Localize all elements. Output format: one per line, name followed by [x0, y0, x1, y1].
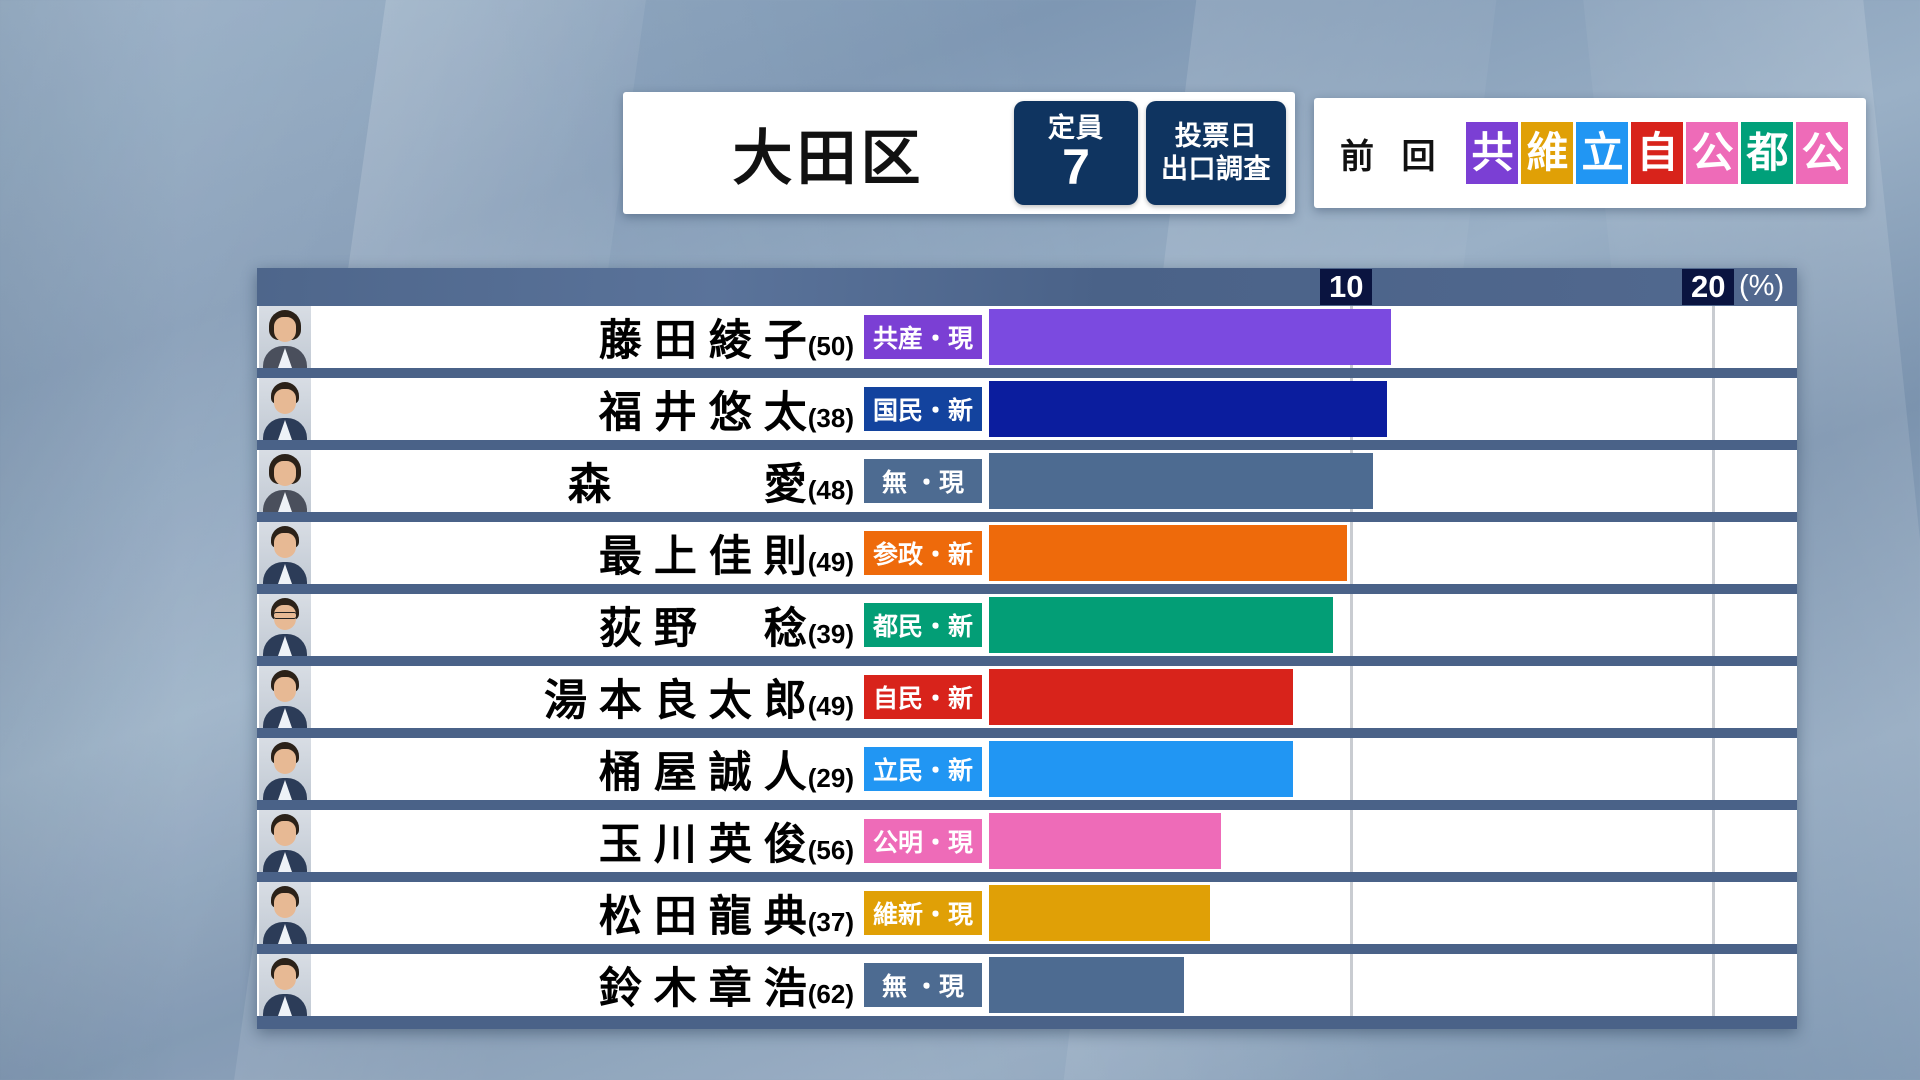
previous-party-badge: 都: [1741, 122, 1793, 184]
candidate-photo: [259, 594, 311, 656]
candidate-row[interactable]: 藤 田 綾 子(50)共産・現: [257, 306, 1797, 368]
axis-tick-label: 10: [1320, 269, 1372, 305]
candidate-photo: [259, 882, 311, 944]
previous-party-badge: 公: [1686, 122, 1738, 184]
vote-share-bar: [989, 957, 1184, 1013]
candidate-name-block: 玉 川 英 俊(56): [311, 810, 858, 872]
candidate-rows: 藤 田 綾 子(50)共産・現福 井 悠 太(38)国民・新森 愛(48)無 ・…: [257, 306, 1797, 1029]
candidate-photo: [259, 738, 311, 800]
candidate-info: 玉 川 英 俊(56)公明・現: [257, 810, 987, 872]
candidate-row[interactable]: 湯 本 良 太 郎(49)自民・新: [257, 666, 1797, 728]
candidate-name-block: 福 井 悠 太(38): [311, 378, 858, 440]
party-status-badge: 国民・新: [864, 387, 982, 431]
header: 大田区 定員 7 投票日 出口調査 前 回 共維立自公都公: [0, 92, 1920, 214]
previous-label: 前 回: [1340, 129, 1444, 178]
title-plate: 大田区 定員 7 投票日 出口調査: [623, 92, 1295, 214]
quota-badge: 定員 7: [1014, 101, 1138, 205]
grid-line: [1350, 666, 1353, 728]
grid-line: [1712, 666, 1715, 728]
candidate-row[interactable]: 玉 川 英 俊(56)公明・現: [257, 810, 1797, 872]
candidate-photo: [259, 810, 311, 872]
exit-poll-chart: 1020(%) 藤 田 綾 子(50)共産・現福 井 悠 太(38)国民・新森 …: [257, 268, 1797, 1029]
quota-value: 7: [1062, 142, 1090, 192]
candidate-info: 松 田 龍 典(37)維新・現: [257, 882, 987, 944]
axis-tick-label: 20: [1682, 269, 1734, 305]
candidate-name: 玉 川 英 俊: [599, 810, 807, 872]
candidate-name-block: 湯 本 良 太 郎(49): [311, 666, 858, 728]
bar-plot-area: [987, 522, 1797, 584]
exit-poll-line1: 投票日: [1175, 120, 1258, 153]
party-status-badge: 無 ・現: [864, 459, 982, 503]
candidate-row[interactable]: 松 田 龍 典(37)維新・現: [257, 882, 1797, 944]
quota-label: 定員: [1048, 114, 1104, 142]
candidate-name: 松 田 龍 典: [599, 882, 807, 944]
vote-share-bar: [989, 381, 1387, 437]
candidate-name-block: 森 愛(48): [311, 450, 858, 512]
bar-plot-area: [987, 810, 1797, 872]
candidate-row[interactable]: 鈴 木 章 浩(62)無 ・現: [257, 954, 1797, 1016]
party-status-badge: 立民・新: [864, 747, 982, 791]
candidate-name-block: 最 上 佳 則(49): [311, 522, 858, 584]
bar-plot-area: [987, 594, 1797, 656]
grid-line: [1712, 450, 1715, 512]
bar-plot-area: [987, 666, 1797, 728]
grid-line: [1712, 882, 1715, 944]
grid-line: [1350, 882, 1353, 944]
grid-line: [1350, 954, 1353, 1016]
candidate-age: (49): [808, 691, 854, 722]
candidate-row[interactable]: 荻 野 稔(39)都民・新: [257, 594, 1797, 656]
candidate-name: 湯 本 良 太 郎: [544, 666, 807, 728]
grid-line: [1712, 306, 1715, 368]
candidate-name: 桶 屋 誠 人: [599, 738, 807, 800]
previous-party-badge: 立: [1576, 122, 1628, 184]
candidate-row[interactable]: 最 上 佳 則(49)参政・新: [257, 522, 1797, 584]
candidate-age: (37): [808, 907, 854, 938]
candidate-name: 最 上 佳 則: [599, 522, 807, 584]
candidate-name: 鈴 木 章 浩: [599, 954, 807, 1016]
party-status-badge: 無 ・現: [864, 963, 982, 1007]
grid-line: [1712, 954, 1715, 1016]
candidate-age: (49): [808, 547, 854, 578]
previous-party-badge: 自: [1631, 122, 1683, 184]
vote-share-bar: [989, 453, 1373, 509]
chart-axis: 1020(%): [257, 268, 1797, 306]
district-name: 大田区: [623, 110, 1014, 197]
exit-poll-line2: 出口調査: [1161, 153, 1271, 186]
vote-share-bar: [989, 525, 1347, 581]
candidate-name-block: 松 田 龍 典(37): [311, 882, 858, 944]
bar-plot-area: [987, 882, 1797, 944]
candidate-name-block: 桶 屋 誠 人(29): [311, 738, 858, 800]
candidate-info: 桶 屋 誠 人(29)立民・新: [257, 738, 987, 800]
previous-party-badge: 維: [1521, 122, 1573, 184]
vote-share-bar: [989, 741, 1293, 797]
candidate-row[interactable]: 桶 屋 誠 人(29)立民・新: [257, 738, 1797, 800]
grid-line: [1712, 810, 1715, 872]
candidate-age: (39): [808, 619, 854, 650]
candidate-age: (62): [808, 979, 854, 1010]
vote-share-bar: [989, 309, 1391, 365]
candidate-age: (56): [808, 835, 854, 866]
candidate-age: (38): [808, 403, 854, 434]
candidate-info: 藤 田 綾 子(50)共産・現: [257, 306, 987, 368]
grid-line: [1350, 522, 1353, 584]
previous-party-badge: 公: [1796, 122, 1848, 184]
candidate-name-block: 鈴 木 章 浩(62): [311, 954, 858, 1016]
candidate-info: 最 上 佳 則(49)参政・新: [257, 522, 987, 584]
previous-party-badges: 共維立自公都公: [1466, 122, 1848, 184]
candidate-age: (29): [808, 763, 854, 794]
candidate-info: 福 井 悠 太(38)国民・新: [257, 378, 987, 440]
bar-plot-area: [987, 738, 1797, 800]
candidate-age: (48): [808, 475, 854, 506]
bar-plot-area: [987, 954, 1797, 1016]
vote-share-bar: [989, 597, 1333, 653]
candidate-row[interactable]: 福 井 悠 太(38)国民・新: [257, 378, 1797, 440]
candidate-photo: [259, 954, 311, 1016]
exit-poll-badge: 投票日 出口調査: [1146, 101, 1286, 205]
party-status-badge: 参政・新: [864, 531, 982, 575]
candidate-name: 藤 田 綾 子: [599, 306, 807, 368]
bar-plot-area: [987, 450, 1797, 512]
candidate-photo: [259, 378, 311, 440]
previous-result-plate: 前 回 共維立自公都公: [1314, 98, 1866, 208]
candidate-info: 湯 本 良 太 郎(49)自民・新: [257, 666, 987, 728]
candidate-name: 福 井 悠 太: [599, 378, 807, 440]
vote-share-bar: [989, 669, 1293, 725]
candidate-photo: [259, 522, 311, 584]
candidate-info: 荻 野 稔(39)都民・新: [257, 594, 987, 656]
grid-line: [1350, 810, 1353, 872]
bar-plot-area: [987, 306, 1797, 368]
candidate-photo: [259, 306, 311, 368]
candidate-info: 鈴 木 章 浩(62)無 ・現: [257, 954, 987, 1016]
party-status-badge: 公明・現: [864, 819, 982, 863]
candidate-name: 荻 野 稔: [599, 594, 807, 656]
grid-line: [1350, 594, 1353, 656]
candidate-photo: [259, 666, 311, 728]
candidate-info: 森 愛(48)無 ・現: [257, 450, 987, 512]
party-status-badge: 共産・現: [864, 315, 982, 359]
party-status-badge: 都民・新: [864, 603, 982, 647]
party-status-badge: 維新・現: [864, 891, 982, 935]
candidate-row[interactable]: 森 愛(48)無 ・現: [257, 450, 1797, 512]
candidate-name-block: 藤 田 綾 子(50): [311, 306, 858, 368]
candidate-name: 森 愛: [568, 450, 807, 512]
bar-plot-area: [987, 378, 1797, 440]
axis-unit-label: (%): [1739, 270, 1784, 303]
candidate-name-block: 荻 野 稔(39): [311, 594, 858, 656]
grid-line: [1712, 594, 1715, 656]
previous-party-badge: 共: [1466, 122, 1518, 184]
grid-line: [1712, 522, 1715, 584]
candidate-photo: [259, 450, 311, 512]
grid-line: [1712, 738, 1715, 800]
candidate-age: (50): [808, 331, 854, 362]
grid-line: [1350, 738, 1353, 800]
party-status-badge: 自民・新: [864, 675, 982, 719]
grid-line: [1712, 378, 1715, 440]
vote-share-bar: [989, 813, 1221, 869]
vote-share-bar: [989, 885, 1210, 941]
